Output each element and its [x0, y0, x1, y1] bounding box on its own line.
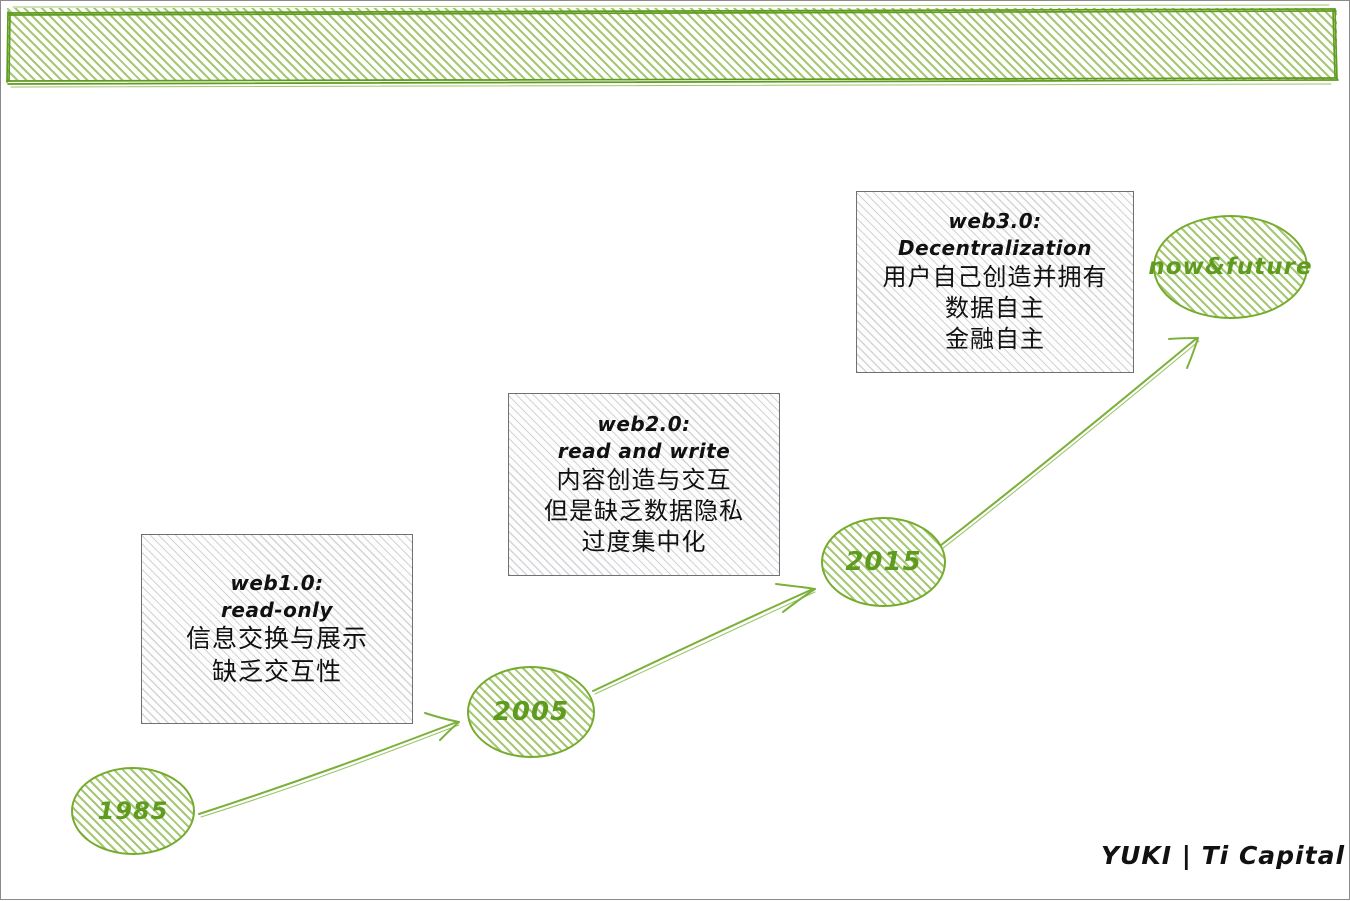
web1-line-1: 信息交换与展示 — [186, 623, 368, 656]
node-year-2015-label: 2015 — [845, 547, 921, 577]
web2-line-3: 过度集中化 — [582, 527, 707, 558]
node-year-2015[interactable]: 2015 — [821, 517, 946, 607]
arrow-2005-to-2015 — [593, 584, 815, 694]
web2-line-1: 内容创造与交互 — [557, 465, 732, 496]
web2-subtitle: read and write — [558, 438, 731, 465]
web3-line-3: 金融自主 — [945, 324, 1045, 355]
web1-heading: web1.0: — [230, 570, 323, 597]
web3-info-box: web3.0: Decentralization 用户自己创造并拥有 数据自主 … — [856, 191, 1134, 373]
web3-line-2: 数据自主 — [945, 293, 1045, 324]
web2-info-box: web2.0: read and write 内容创造与交互 但是缺乏数据隐私 … — [508, 393, 780, 576]
whiteboard-canvas: web1.0: read-only 信息交换与展示 缺乏交互性 web2.0: … — [0, 0, 1350, 900]
web1-subtitle: read-only — [221, 597, 333, 624]
web3-heading: web3.0: — [948, 208, 1041, 235]
node-now-future[interactable]: now&future — [1153, 215, 1308, 319]
header-banner — [7, 8, 1337, 80]
header-banner-sketch-border — [1, 1, 1350, 101]
web3-line-1: 用户自己创造并拥有 — [883, 262, 1108, 293]
node-now-future-label: now&future — [1148, 254, 1312, 280]
web3-subtitle: Decentralization — [898, 235, 1092, 262]
arrow-1985-to-2005 — [199, 713, 459, 817]
node-year-2005-label: 2005 — [493, 697, 569, 727]
web1-info-box: web1.0: read-only 信息交换与展示 缺乏交互性 — [141, 534, 413, 724]
web1-line-2: 缺乏交互性 — [212, 656, 342, 689]
node-year-1985-label: 1985 — [98, 797, 169, 825]
web2-line-2: 但是缺乏数据隐私 — [544, 496, 744, 527]
web2-heading: web2.0: — [597, 411, 690, 438]
node-year-1985[interactable]: 1985 — [71, 767, 195, 855]
signature-credit: YUKI | Ti Capital — [1101, 841, 1345, 870]
node-year-2005[interactable]: 2005 — [467, 666, 595, 758]
